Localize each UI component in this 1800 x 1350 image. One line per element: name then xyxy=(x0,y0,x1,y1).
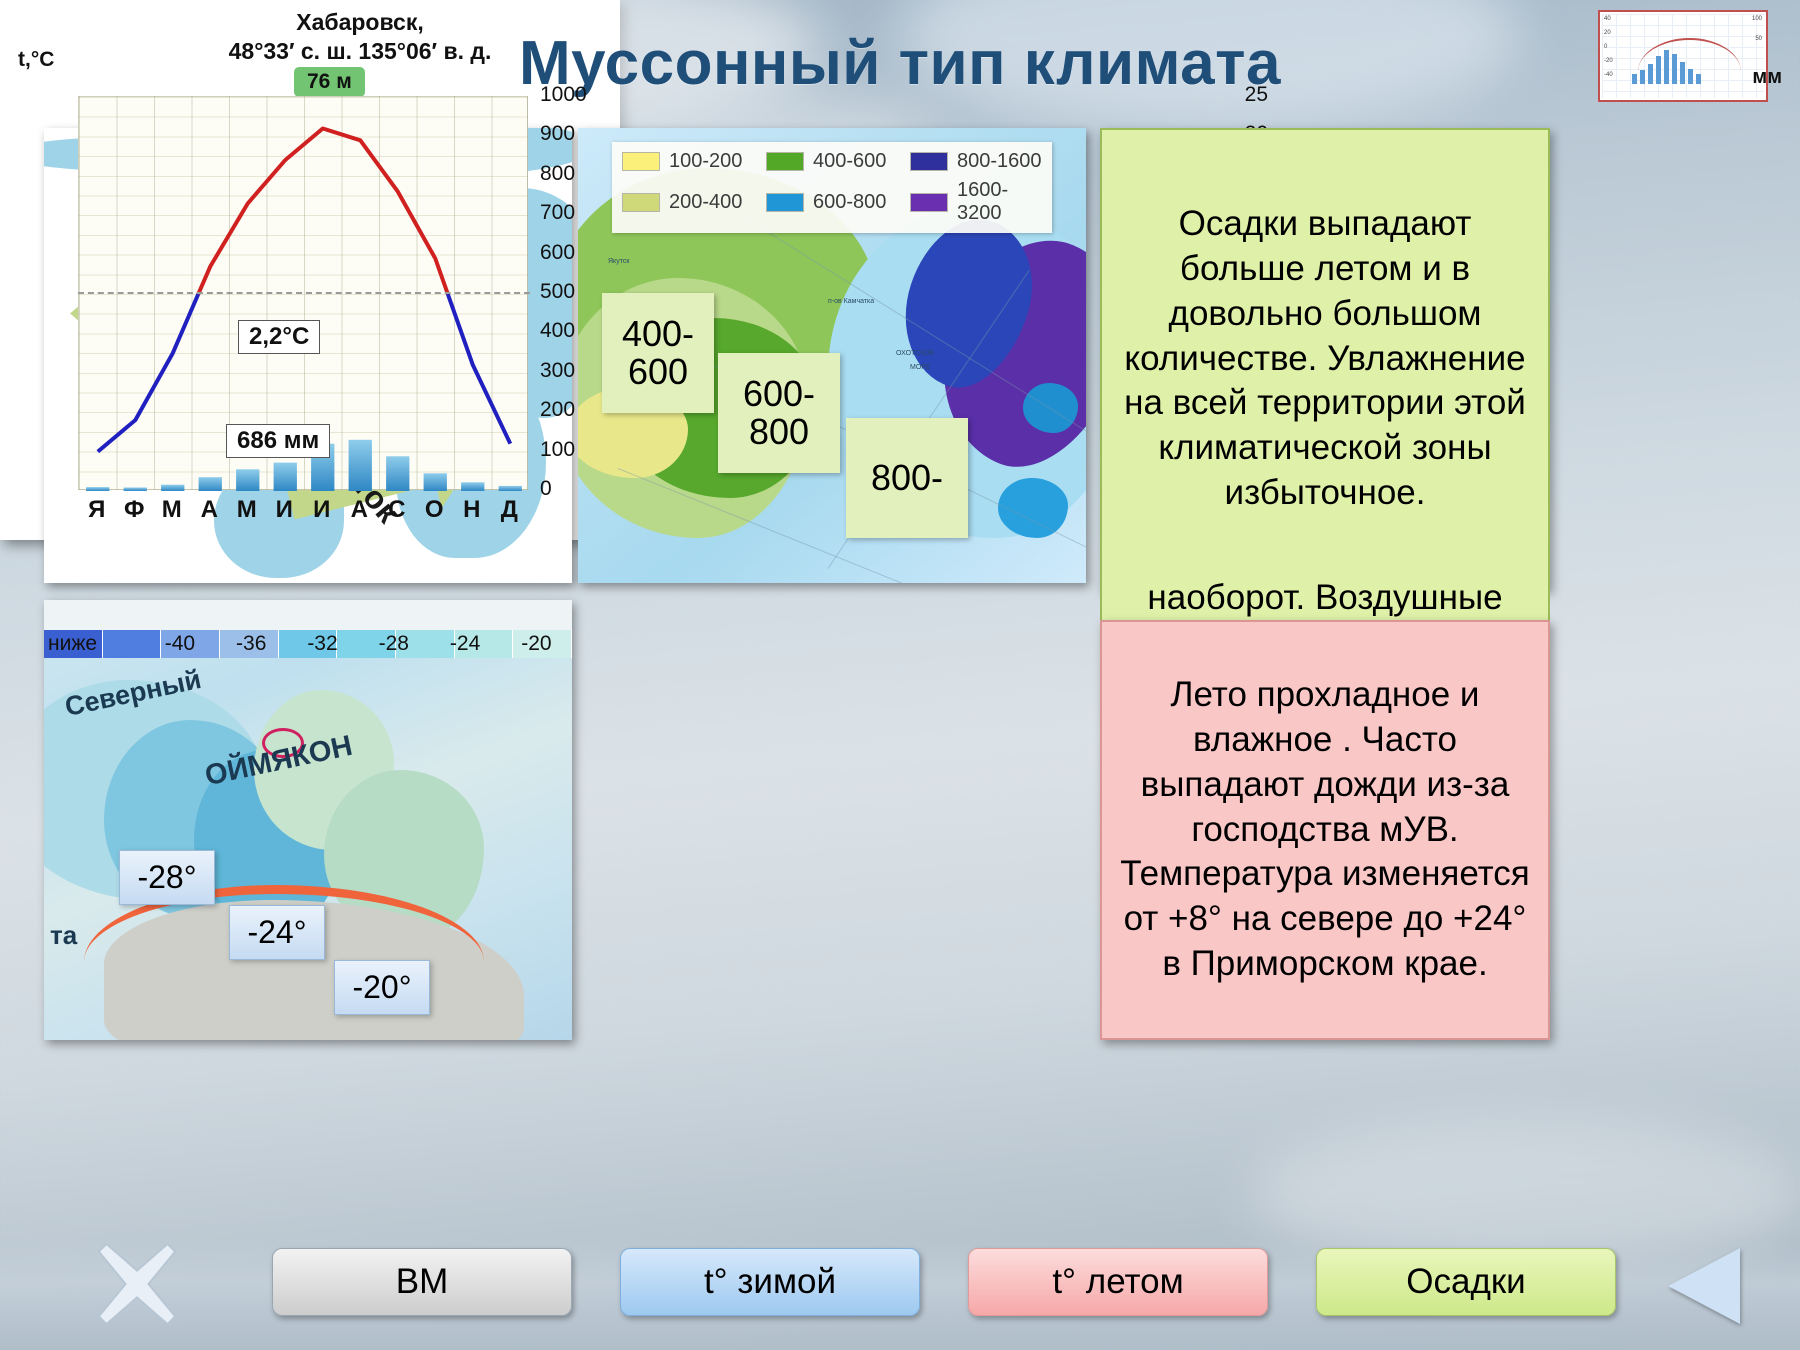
precip-callout-600-800: 600- 800 xyxy=(718,353,840,473)
scale-label-below: ниже xyxy=(44,632,144,656)
map-place-label-ta: та xyxy=(50,920,77,951)
scale-label: -20 xyxy=(501,632,572,656)
january-temperature-map[interactable]: ниже -40 -36 -32 -28 -24 -20 Северный ОЙ… xyxy=(44,600,572,1040)
legend-label: 800-1600 xyxy=(957,150,1042,173)
chart-temp-tick: 25 xyxy=(1208,83,1268,107)
chart-elevation-badge: 76 м xyxy=(294,67,365,97)
temperature-color-scale: ниже -40 -36 -32 -28 -24 -20 xyxy=(44,600,572,658)
precip-callout-800: 800- xyxy=(846,418,968,538)
close-icon[interactable] xyxy=(98,1244,176,1324)
legend-label: 100-200 xyxy=(669,150,742,173)
chart-temperature-line xyxy=(198,129,447,295)
map-place-label: МОРЕ xyxy=(910,364,931,371)
callout-line2: 600 xyxy=(628,351,688,392)
nav-button-summer-temperature[interactable]: t° летом xyxy=(968,1248,1268,1316)
legend-item: 200-400 xyxy=(622,179,754,225)
legend-label: 400-600 xyxy=(813,150,886,173)
callout-line1: 800- xyxy=(871,459,943,497)
chart-precip-tick: 700 xyxy=(540,201,612,225)
chart-month-label: И xyxy=(303,496,341,524)
legend-swatch-icon xyxy=(766,193,804,212)
legend-item: 600-800 xyxy=(766,179,898,225)
chart-precip-bar xyxy=(236,469,259,491)
chart-precip-bar xyxy=(199,477,222,491)
chart-precip-tick: 800 xyxy=(540,162,612,186)
chart-precip-bar xyxy=(86,487,109,491)
chart-yaxis-left-label: t,°C xyxy=(18,48,54,72)
temp-callout-minus20: -20° xyxy=(334,960,430,1015)
chart-month-label: Д xyxy=(491,496,529,524)
chart-precip-bar xyxy=(499,486,522,491)
chart-zero-line xyxy=(78,292,530,294)
map-place-label: п-ов Камчатка xyxy=(828,298,874,305)
chart-title: Хабаровск, 48°33′ с. ш. 135°06′ в. д. xyxy=(130,8,590,66)
chart-precip-tick: 900 xyxy=(540,122,612,146)
legend-swatch-icon xyxy=(766,152,804,171)
annual-precipitation-map[interactable]: ОХОТСКОЕ МОРЕ п-ов Камчатка Сахалин Якут… xyxy=(578,128,1086,583)
chart-temperature-line xyxy=(448,294,511,444)
callout-line1: 400- xyxy=(622,313,694,354)
chart-precip-tick: 300 xyxy=(540,359,612,383)
callout-line1: 600- xyxy=(743,373,815,414)
chart-precip-bar xyxy=(424,473,447,491)
scale-label: -40 xyxy=(144,632,215,656)
temp-callout-minus28: -28° xyxy=(119,850,215,905)
legend-item: 1600-3200 xyxy=(910,179,1042,225)
chart-month-label: Ф xyxy=(116,496,154,524)
scale-label: -28 xyxy=(358,632,429,656)
chart-month-label: А xyxy=(191,496,229,524)
chart-month-label: М xyxy=(153,496,191,524)
precipitation-legend: 100-200 400-600 800-1600 200-400 600-800… xyxy=(612,142,1052,233)
temp-callout-minus24: -24° xyxy=(229,905,325,960)
legend-label: 1600-3200 xyxy=(957,179,1042,225)
previous-slide-triangle-icon[interactable] xyxy=(1668,1248,1740,1324)
scale-label: -24 xyxy=(429,632,500,656)
chart-precip-tick: 200 xyxy=(540,398,612,422)
chart-precip-bar xyxy=(386,456,409,491)
legend-item: 800-1600 xyxy=(910,150,1042,173)
chart-month-label: М xyxy=(228,496,266,524)
legend-swatch-icon xyxy=(910,193,948,212)
chart-precip-bar xyxy=(274,463,297,491)
chart-precip-tick: 400 xyxy=(540,319,612,343)
chart-precip-tick: 600 xyxy=(540,241,612,265)
nav-button-precipitation[interactable]: Осадки xyxy=(1316,1248,1616,1316)
chart-precip-tick: 1000 xyxy=(540,83,612,107)
climate-diagram-thumbnail-icon[interactable]: 40 20 0 -20 -40 100 50 xyxy=(1598,10,1768,102)
chart-precip-tick: 500 xyxy=(540,280,612,304)
precipitation-description-panel: Осадки выпадают больше летом и в довольн… xyxy=(1100,128,1550,590)
chart-precip-bar xyxy=(124,488,147,492)
chart-coordinates: 48°33′ с. ш. 135°06′ в. д. xyxy=(130,37,590,66)
callout-line2: 800 xyxy=(749,411,809,452)
chart-month-labels: ЯФМАМИИАСОНД xyxy=(78,496,528,524)
scale-label: -32 xyxy=(287,632,358,656)
nav-button-winter-temperature[interactable]: t° зимой xyxy=(620,1248,920,1316)
chart-temperature-line xyxy=(98,294,199,452)
legend-swatch-icon xyxy=(622,152,660,171)
legend-item: 100-200 xyxy=(622,150,754,173)
chart-month-label: О xyxy=(416,496,454,524)
chart-month-label: С xyxy=(378,496,416,524)
legend-item: 400-600 xyxy=(766,150,898,173)
chart-precip-tick: 100 xyxy=(540,438,612,462)
legend-swatch-icon xyxy=(910,152,948,171)
precip-callout-400-600: 400- 600 xyxy=(602,293,714,413)
chart-month-label: А xyxy=(341,496,379,524)
legend-label: 200-400 xyxy=(669,191,742,214)
chart-precip-bar xyxy=(349,440,372,491)
chart-precip-bar xyxy=(161,485,184,491)
chart-precip-tick: 0 xyxy=(540,477,612,501)
chart-annotation-total-precipitation: 686 мм xyxy=(226,424,330,458)
nav-button-vm[interactable]: ВМ xyxy=(272,1248,572,1316)
chart-yaxis-right-label: мм xyxy=(1752,66,1782,89)
chart-annotation-average-temperature: 2,2°C xyxy=(238,320,320,354)
map-place-label: ОХОТСКОЕ xyxy=(896,350,934,357)
chart-month-label: И xyxy=(266,496,304,524)
scale-label: -36 xyxy=(216,632,287,656)
chart-month-label: Н xyxy=(453,496,491,524)
legend-label: 600-800 xyxy=(813,191,886,214)
chart-city-name: Хабаровск, xyxy=(130,8,590,37)
chart-precip-bar xyxy=(461,482,484,491)
legend-swatch-icon xyxy=(622,193,660,212)
summer-temperature-description-panel: Лето прохладное и влажное . Часто выпада… xyxy=(1100,620,1550,1040)
chart-month-label: Я xyxy=(78,496,116,524)
